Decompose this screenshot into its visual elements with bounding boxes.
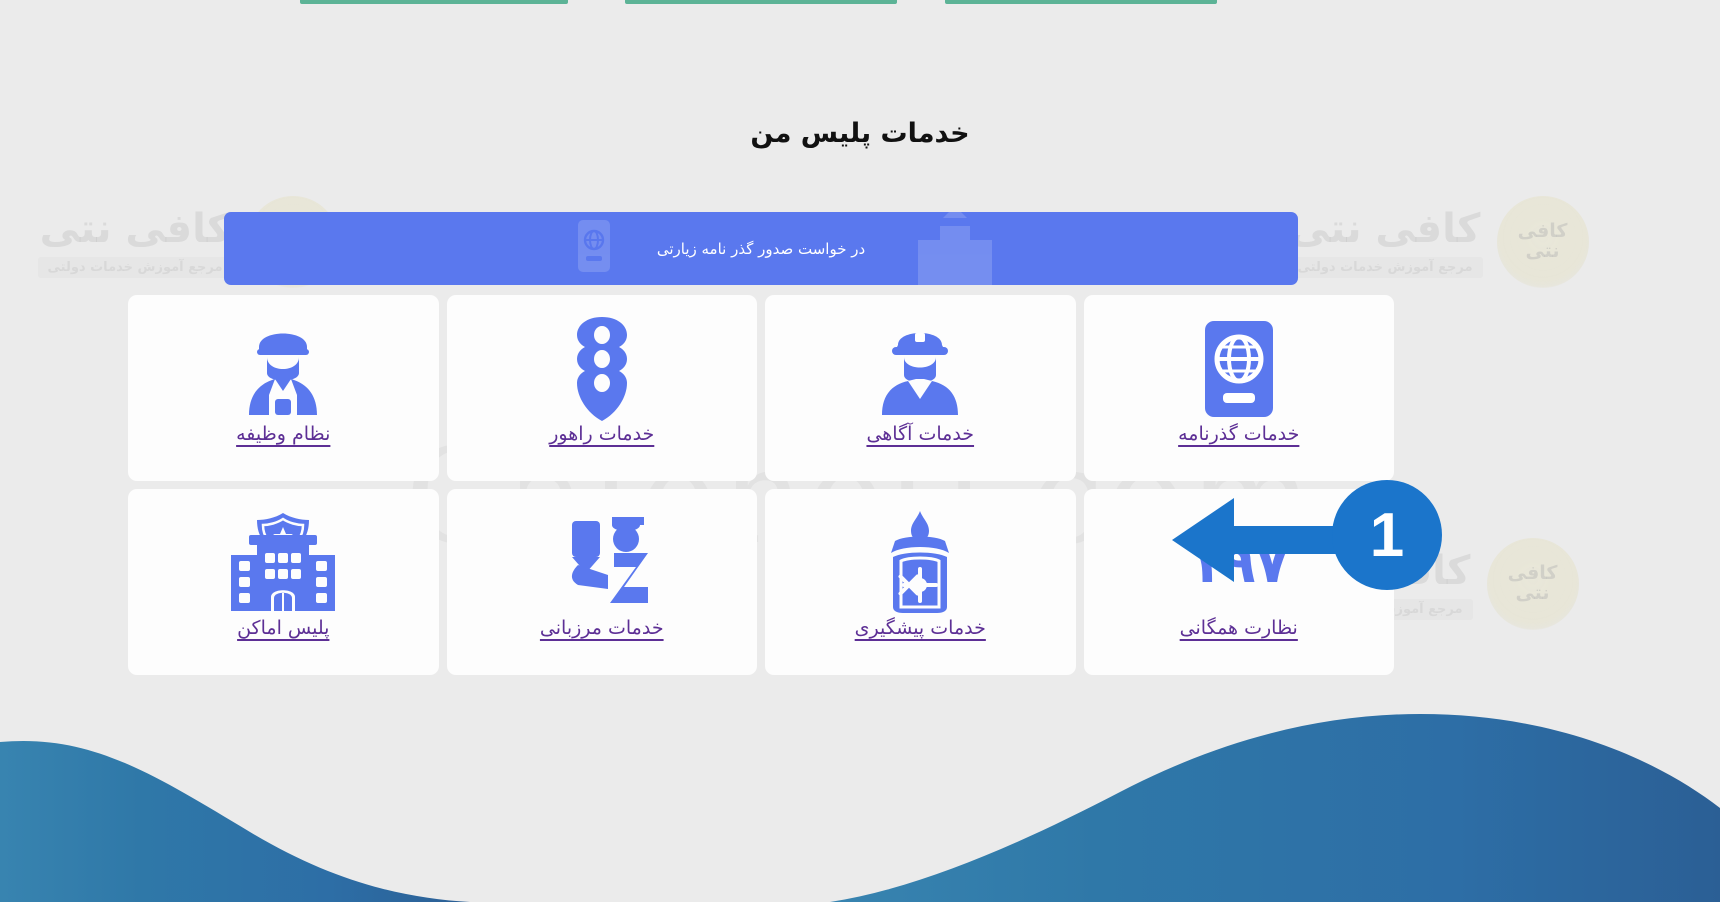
service-card-label: خدمات آگاهی	[866, 423, 974, 445]
lantern-icon	[877, 511, 963, 615]
featured-service-label: در خواست صدور گذر نامه زیارتی	[657, 240, 865, 258]
passport-icon	[574, 218, 614, 278]
services-section: در خواست صدور گذر نامه زیارتی	[128, 212, 1394, 675]
service-card-conscription[interactable]: نظام وظیفه	[128, 295, 439, 481]
border-guard-icon	[552, 511, 652, 615]
footer-wave-decoration	[0, 712, 1720, 902]
watermark-seal-label: کافینتی	[1518, 222, 1568, 262]
service-card-label: خدمات مرزبانی	[540, 617, 664, 639]
service-card-passport[interactable]: خدمات گذرنامه	[1084, 295, 1395, 481]
service-card-prevention[interactable]: خدمات پیشگیری	[765, 489, 1076, 675]
service-card-label: خدمات راهور	[549, 423, 654, 445]
watermark-seal-icon: کافینتی	[1487, 538, 1579, 630]
page-title: خدمات پلیس من	[0, 118, 1720, 149]
service-card-label: نظارت همگانی	[1180, 617, 1298, 639]
tab-rule-1	[945, 0, 1217, 4]
service-card-label: خدمات پیشگیری	[855, 617, 986, 639]
building-icon	[912, 212, 998, 285]
annotation-step-badge: 1	[1332, 480, 1442, 590]
watermark-seal-icon: کافینتی	[1497, 196, 1589, 288]
service-card-criminal-investigation[interactable]: خدمات آگاهی	[765, 295, 1076, 481]
service-card-premises-police[interactable]: پلیس اماکن	[128, 489, 439, 675]
tab-rule-3	[300, 0, 568, 4]
police-services-page: Cafeneti.com کافینتی کافی نتی مرجع آموزش…	[0, 0, 1720, 902]
passport-globe-icon	[1201, 317, 1277, 421]
traffic-light-icon	[567, 317, 637, 421]
tab-rule-2	[625, 0, 897, 4]
annotation-left-arrow-icon	[1172, 496, 1350, 588]
top-tab-rules	[0, 0, 1720, 8]
services-grid: خدمات گذرنامه خدمات آگاهی	[128, 295, 1394, 675]
conscript-icon	[235, 317, 331, 421]
police-station-icon	[227, 511, 339, 615]
service-card-label: پلیس اماکن	[237, 617, 329, 639]
watermark-seal-label: کافینتی	[1508, 564, 1558, 604]
service-card-traffic-police[interactable]: خدمات راهور	[447, 295, 758, 481]
police-officer-icon	[872, 317, 968, 421]
service-card-border-guard[interactable]: خدمات مرزبانی	[447, 489, 758, 675]
service-card-label: نظام وظیفه	[236, 423, 330, 445]
featured-service-banner[interactable]: در خواست صدور گذر نامه زیارتی	[224, 212, 1298, 285]
service-card-label: خدمات گذرنامه	[1178, 423, 1299, 445]
